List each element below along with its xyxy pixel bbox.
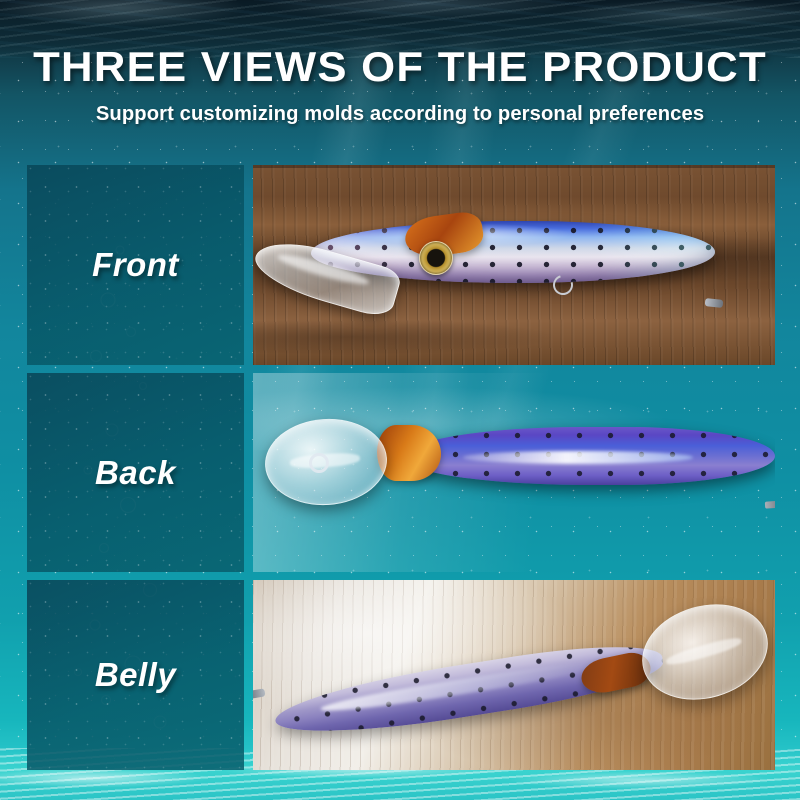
nose-eyelet-icon [253, 688, 266, 699]
view-label-back: Back [95, 454, 176, 492]
label-panel-back: Back [27, 373, 244, 572]
view-label-front: Front [92, 246, 179, 284]
view-row-front: Front [0, 165, 800, 365]
lure-belly-view-photo [253, 580, 775, 770]
page-title: THREE VIEWS OF THE PRODUCT [0, 46, 800, 88]
diving-lip-belly [631, 590, 775, 714]
line-tie-ring-icon [309, 453, 329, 473]
lure-back-view-photo [253, 373, 775, 572]
fishing-lure-back [253, 373, 775, 572]
tail-eyelet-icon [705, 298, 724, 308]
label-panel-front: Front [27, 165, 244, 365]
lure-front-view-photo [253, 165, 775, 365]
view-label-belly: Belly [95, 656, 176, 694]
fishing-lure-front [253, 165, 775, 365]
page-subtitle: Support customizing molds according to p… [6, 102, 794, 126]
lure-body-back [403, 427, 775, 485]
view-row-back: Back [0, 373, 800, 572]
lure-head-insert [377, 425, 441, 481]
lure-eye-icon [419, 241, 453, 275]
fishing-lure-belly [253, 580, 775, 770]
tail-eyelet-icon [765, 500, 775, 508]
label-panel-belly: Belly [27, 580, 244, 770]
lure-spot-pattern [403, 427, 775, 485]
header-block: THREE VIEWS OF THE PRODUCT Support custo… [0, 46, 800, 126]
view-row-belly: Belly [0, 580, 800, 770]
product-three-views-banner: THREE VIEWS OF THE PRODUCT Support custo… [0, 0, 800, 800]
